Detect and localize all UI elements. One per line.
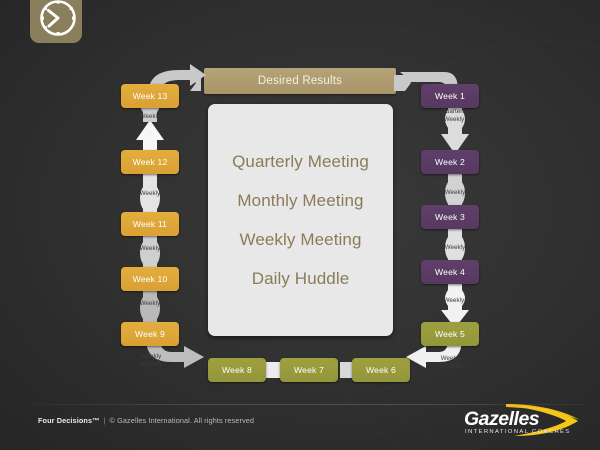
clock-icon <box>36 0 80 40</box>
footer-rights: © Gazelles International. All rights res… <box>110 416 255 425</box>
week-box-week-4[interactable]: Week 4 <box>421 260 479 284</box>
week-box-week-8[interactable]: Week 8 <box>208 358 266 382</box>
week-box-week-11[interactable]: Week 11 <box>121 212 179 236</box>
week-box-week-13[interactable]: Week 13 <box>121 84 179 108</box>
gazelles-tagline: INTERNATIONAL COACHES <box>465 429 571 435</box>
meeting-quarterly: Quarterly Meeting <box>232 152 369 172</box>
week-box-week-2[interactable]: Week 2 <box>421 150 479 174</box>
meeting-daily: Daily Huddle <box>252 269 350 289</box>
desired-results-banner: Desired Results <box>204 68 396 94</box>
footer-brand: Four Decisions™ <box>38 416 100 425</box>
footer-copyright: Four Decisions™|© Gazelles International… <box>38 416 254 425</box>
week-box-week-3[interactable]: Week 3 <box>421 205 479 229</box>
week-box-week-12[interactable]: Week 12 <box>121 150 179 174</box>
meeting-weekly: Weekly Meeting <box>239 230 361 250</box>
week-box-week-10[interactable]: Week 10 <box>121 267 179 291</box>
week-box-week-1[interactable]: Week 1 <box>421 84 479 108</box>
meeting-monthly: Monthly Meeting <box>237 191 363 211</box>
week-box-week-9[interactable]: Week 9 <box>121 322 179 346</box>
gazelles-wordmark: Gazelles <box>464 408 539 431</box>
week-box-week-5[interactable]: Week 5 <box>421 322 479 346</box>
gazelles-logo: Gazelles INTERNATIONAL COACHES <box>462 402 584 442</box>
footer-separator: | <box>100 416 110 425</box>
week-box-week-6[interactable]: Week 6 <box>352 358 410 382</box>
slide-canvas: Desired Results Quarterly Meeting Monthl… <box>0 0 600 450</box>
meeting-rhythm-panel: Quarterly Meeting Monthly Meeting Weekly… <box>208 104 393 336</box>
week-box-week-7[interactable]: Week 7 <box>280 358 338 382</box>
clock-logo <box>30 0 82 43</box>
